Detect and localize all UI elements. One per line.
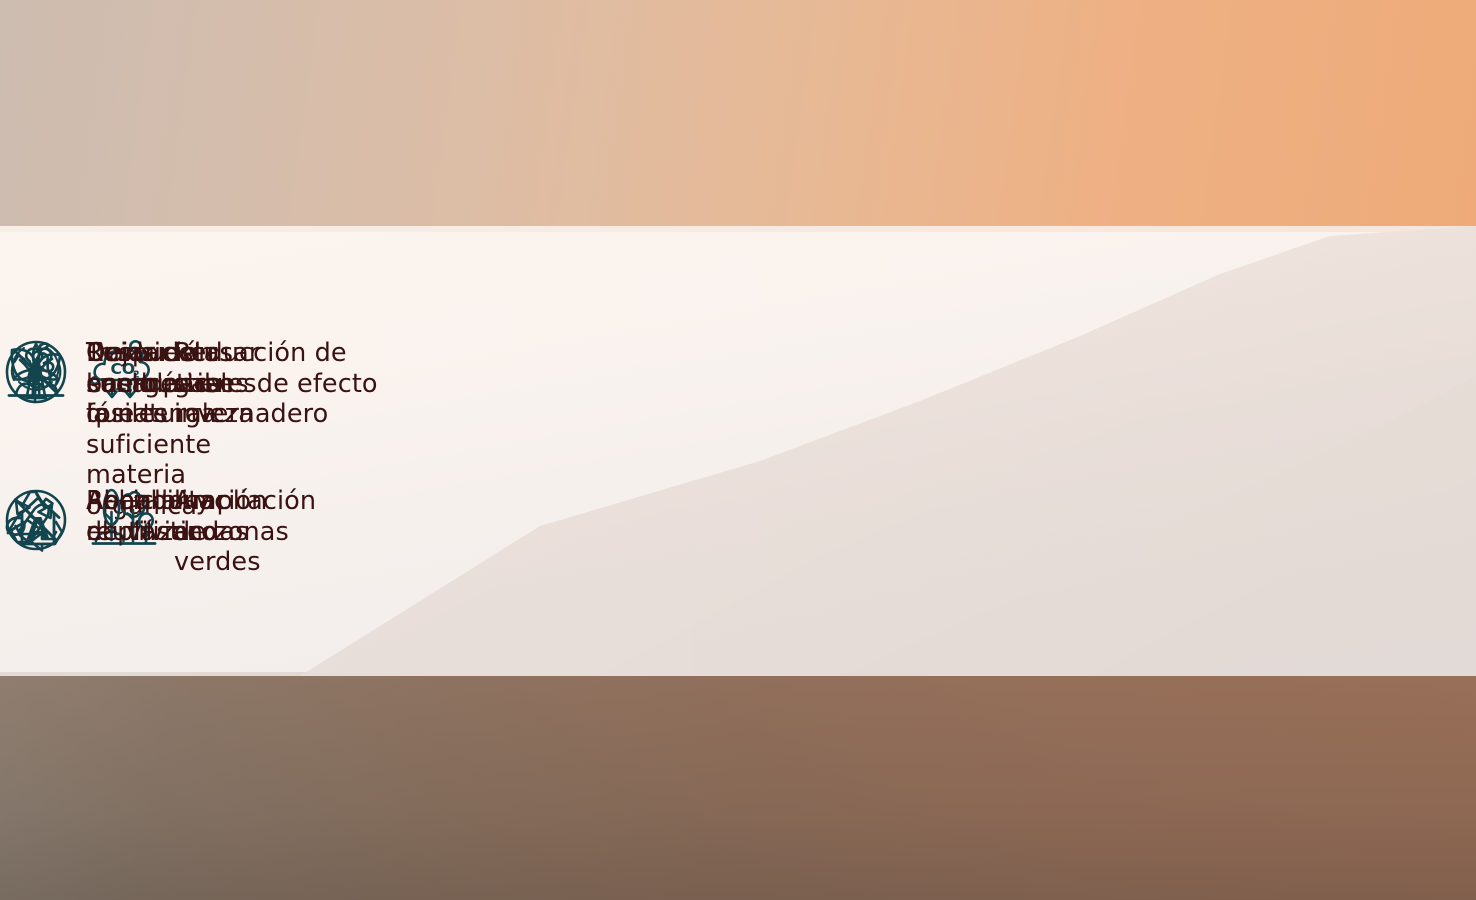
- grid-item-reciclar-reutilizar[interactable]: Reciclar y reutilizar: [0, 484, 211, 556]
- grid-item-label: Reciclar y reutilizar: [86, 484, 211, 547]
- benefit-grid: CO 2 Reducción de gases de efecto invern…: [0, 226, 1476, 676]
- apple-core-compost-icon: [0, 336, 72, 408]
- recycle-icon: [0, 484, 72, 556]
- ground-background: [0, 672, 1476, 900]
- infographic-canvas: CO 2 Reducción de gases de efecto invern…: [0, 0, 1476, 900]
- sky-background: [0, 0, 1476, 232]
